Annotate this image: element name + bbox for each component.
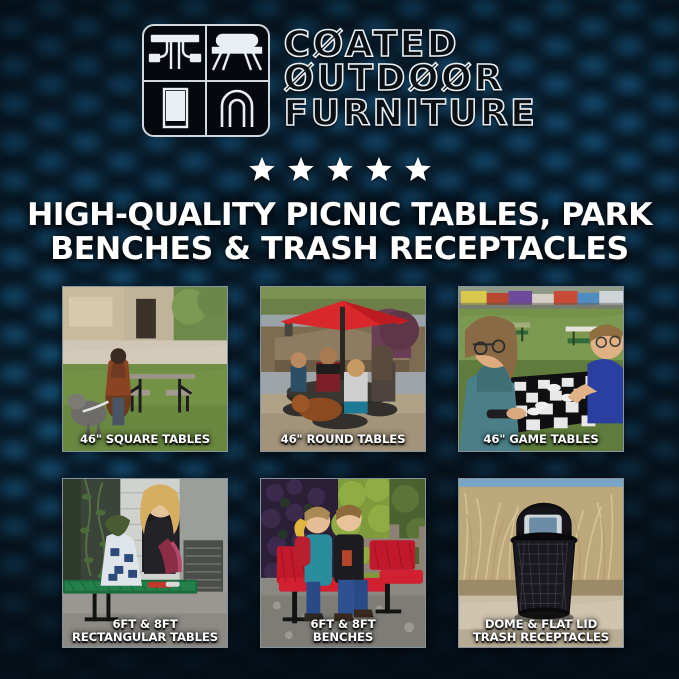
brand-name-line-2: ØUTDØØR bbox=[284, 62, 505, 97]
star-icon bbox=[247, 155, 277, 184]
round-picnic-table-photo bbox=[261, 287, 425, 451]
star-icon bbox=[286, 155, 316, 184]
product-tile-caption: 46" SQUARE TABLES bbox=[65, 433, 225, 446]
arch-dome-receptacle-icon bbox=[206, 81, 268, 136]
brand-name-line-1: CØATED bbox=[284, 28, 460, 63]
product-tile-caption: 46" ROUND TABLES bbox=[263, 433, 423, 446]
product-banner: CØATED ØUTDØØR FURNITURE HIGH-QUALITY PI… bbox=[0, 0, 679, 679]
product-tile-caption: 6FT & 8FT BENCHES bbox=[263, 618, 423, 644]
caption-line-2: RECTANGULAR TABLES bbox=[65, 631, 225, 644]
brand-name-line-3: FURNITURE bbox=[284, 97, 538, 132]
caption-line-2: TRASH RECEPTACLES bbox=[461, 631, 621, 644]
product-tile-rectangular-tables[interactable]: 6FT & 8FT RECTANGULAR TABLES bbox=[62, 478, 228, 648]
square-picnic-table-photo bbox=[63, 287, 227, 451]
star-icon bbox=[403, 155, 433, 184]
game-checkerboard-table-photo bbox=[459, 287, 623, 451]
product-tile-square-tables[interactable]: 46" SQUARE TABLES bbox=[62, 286, 228, 452]
five-star-rating bbox=[0, 155, 679, 184]
picnic-table-icon bbox=[144, 26, 206, 81]
product-tile-caption: DOME & FLAT LID TRASH RECEPTACLES bbox=[461, 618, 621, 644]
star-icon bbox=[364, 155, 394, 184]
product-grid: 46" SQUARE TABLES bbox=[62, 286, 617, 648]
star-icon bbox=[325, 155, 355, 184]
product-tile-round-tables[interactable]: 46" ROUND TABLES bbox=[260, 286, 426, 452]
product-tile-benches[interactable]: 6FT & 8FT BENCHES bbox=[260, 478, 426, 648]
headline-line-2: BENCHES & TRASH RECEPTACLES bbox=[26, 233, 653, 267]
four-quadrant-outdoor-furniture-icon bbox=[142, 24, 270, 137]
banner-headline: HIGH-QUALITY PICNIC TABLES, PARK BENCHES… bbox=[26, 199, 653, 266]
brand-wordmark: CØATED ØUTDØØR FURNITURE bbox=[284, 28, 538, 134]
product-tile-trash-receptacles[interactable]: DOME & FLAT LID TRASH RECEPTACLES bbox=[458, 478, 624, 648]
flat-lid-receptacle-icon bbox=[144, 81, 206, 136]
headline-line-1: HIGH-QUALITY PICNIC TABLES, PARK bbox=[26, 199, 653, 233]
brand-logo: CØATED ØUTDØØR FURNITURE bbox=[0, 24, 679, 137]
product-tile-game-tables[interactable]: 46" GAME TABLES bbox=[458, 286, 624, 452]
product-tile-caption: 6FT & 8FT RECTANGULAR TABLES bbox=[65, 618, 225, 644]
caption-line-2: BENCHES bbox=[263, 631, 423, 644]
park-bench-icon bbox=[206, 26, 268, 81]
product-tile-caption: 46" GAME TABLES bbox=[461, 433, 621, 446]
